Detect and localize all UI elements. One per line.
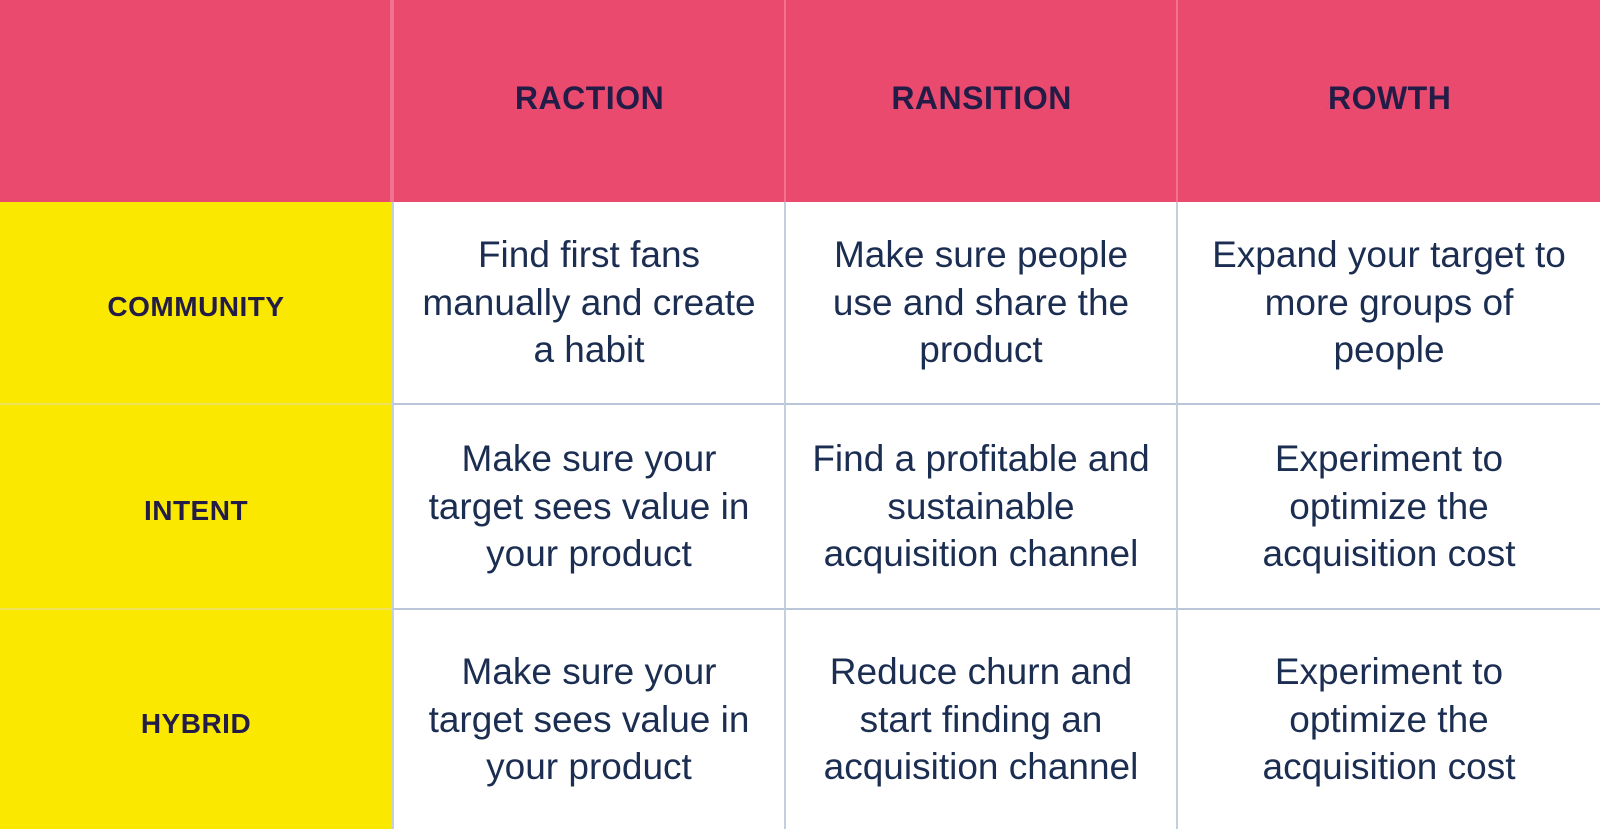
cell-text: Make sure people use and share the produ… bbox=[812, 231, 1150, 373]
row-header-label: Intent bbox=[0, 487, 392, 527]
column-header-label: Growth bbox=[1178, 70, 1600, 132]
table-cell-intent-traction: Make sure your target sees value in your… bbox=[392, 403, 784, 608]
cell-text: Experiment to optimize the acquisition c… bbox=[1204, 648, 1574, 790]
table-cell-intent-growth: Experiment to optimize the acquisition c… bbox=[1176, 403, 1600, 608]
table-cell-community-transition: Make sure people use and share the produ… bbox=[784, 202, 1176, 403]
column-header-traction: Traction bbox=[392, 0, 784, 202]
cell-text: Experiment to optimize the acquisition c… bbox=[1204, 435, 1574, 577]
column-header-label: Transition bbox=[786, 70, 1176, 132]
growth-matrix-table: Traction Transition Growth Community Fin… bbox=[0, 0, 1600, 829]
row-header-label: Community bbox=[0, 283, 392, 323]
table-cell-intent-transition: Find a profitable and sustainable acquis… bbox=[784, 403, 1176, 608]
column-header-growth: Growth bbox=[1176, 0, 1600, 202]
row-header-community: Community bbox=[0, 202, 392, 403]
cell-text: Find first fans manually and create a ha… bbox=[420, 231, 758, 373]
table-cell-community-growth: Expand your target to more groups of peo… bbox=[1176, 202, 1600, 403]
table-cell-community-traction: Find first fans manually and create a ha… bbox=[392, 202, 784, 403]
row-header-label: Hybrid bbox=[0, 700, 392, 740]
cell-text: Reduce churn and start finding an acquis… bbox=[812, 648, 1150, 790]
column-header-label: Traction bbox=[394, 70, 784, 132]
cell-text: Make sure your target sees value in your… bbox=[420, 435, 758, 577]
row-header-intent: Intent bbox=[0, 403, 392, 608]
table-cell-hybrid-growth: Experiment to optimize the acquisition c… bbox=[1176, 608, 1600, 829]
cell-text: Make sure your target sees value in your… bbox=[420, 648, 758, 790]
cell-text: Expand your target to more groups of peo… bbox=[1204, 231, 1574, 373]
row-header-hybrid: Hybrid bbox=[0, 608, 392, 829]
cell-text: Find a profitable and sustainable acquis… bbox=[812, 435, 1150, 577]
table-cell-hybrid-transition: Reduce churn and start finding an acquis… bbox=[784, 608, 1176, 829]
table-corner-cell bbox=[0, 0, 392, 202]
table-cell-hybrid-traction: Make sure your target sees value in your… bbox=[392, 608, 784, 829]
column-header-transition: Transition bbox=[784, 0, 1176, 202]
